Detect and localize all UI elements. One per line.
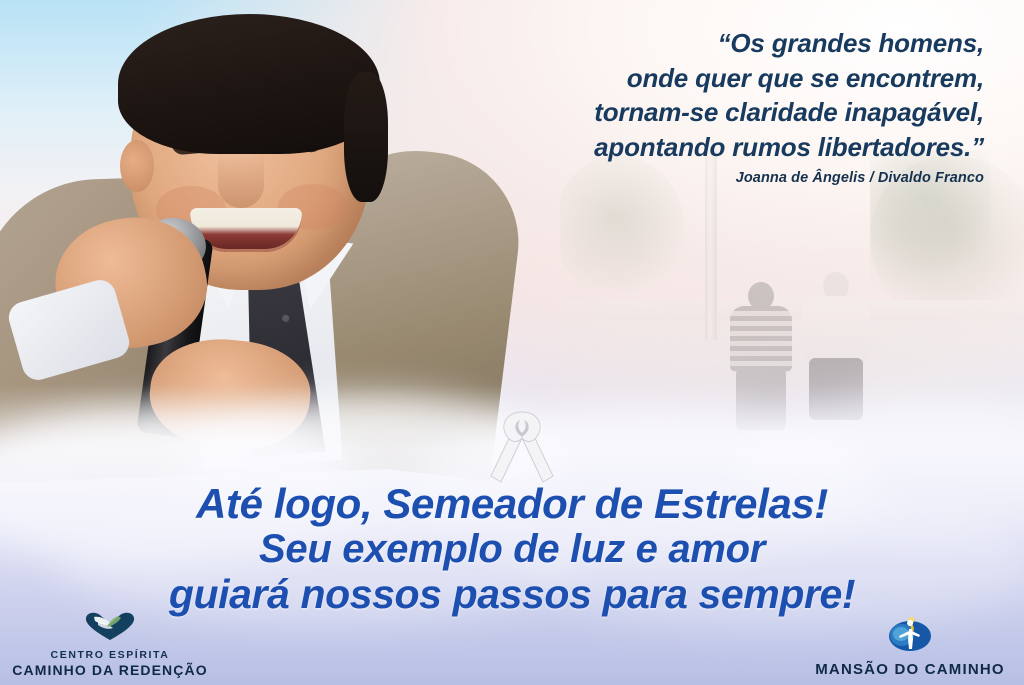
headline-line-2: Seu exemplo de luz e amor — [0, 529, 1024, 570]
background-person-striped — [730, 282, 792, 432]
logo-mansao-do-caminho: MANSÃO DO CAMINHO — [802, 613, 1018, 679]
logo-right-line-1: MANSÃO DO CAMINHO — [802, 661, 1018, 679]
logo-left-line-1: CENTRO ESPÍRITA — [6, 649, 214, 662]
background-ground — [560, 320, 1024, 450]
headline-line-1: Até logo, Semeador de Estrelas! — [0, 483, 1024, 526]
quote-text: “Os grandes homens, onde quer que se enc… — [364, 26, 984, 164]
headline-line-3: guiará nossos passos para sempre! — [0, 574, 1024, 616]
background-person-white — [802, 272, 870, 432]
hair — [118, 14, 380, 154]
person-torso — [730, 306, 792, 372]
logo-centro-espirita: CENTRO ESPÍRITA CAMINHO DA REDENÇÃO — [6, 611, 214, 679]
person-torso — [802, 296, 870, 362]
tribute-poster: “Os grandes homens, onde quer que se enc… — [0, 0, 1024, 685]
quote-line-3: tornam-se claridade inapagável, — [364, 95, 984, 130]
quote-line-1: “Os grandes homens, — [364, 26, 984, 61]
globe-figure-flame-icon — [802, 613, 1018, 658]
person-legs — [736, 368, 786, 430]
quote-line-2: onde quer que se encontrem, — [364, 61, 984, 96]
background-photo — [560, 150, 1024, 450]
person-legs — [809, 358, 863, 420]
quote-line-4: apontando rumos libertadores.” — [364, 130, 984, 165]
logo-left-line-2: CAMINHO DA REDENÇÃO — [6, 662, 214, 679]
quote-attribution: Joanna de Ângelis / Divaldo Franco — [364, 170, 984, 186]
nose — [218, 152, 264, 208]
mourning-ribbon-icon — [487, 408, 557, 486]
ear — [120, 140, 154, 192]
headline: Até logo, Semeador de Estrelas! Seu exem… — [0, 483, 1024, 615]
hands-heart-icon — [6, 611, 214, 646]
